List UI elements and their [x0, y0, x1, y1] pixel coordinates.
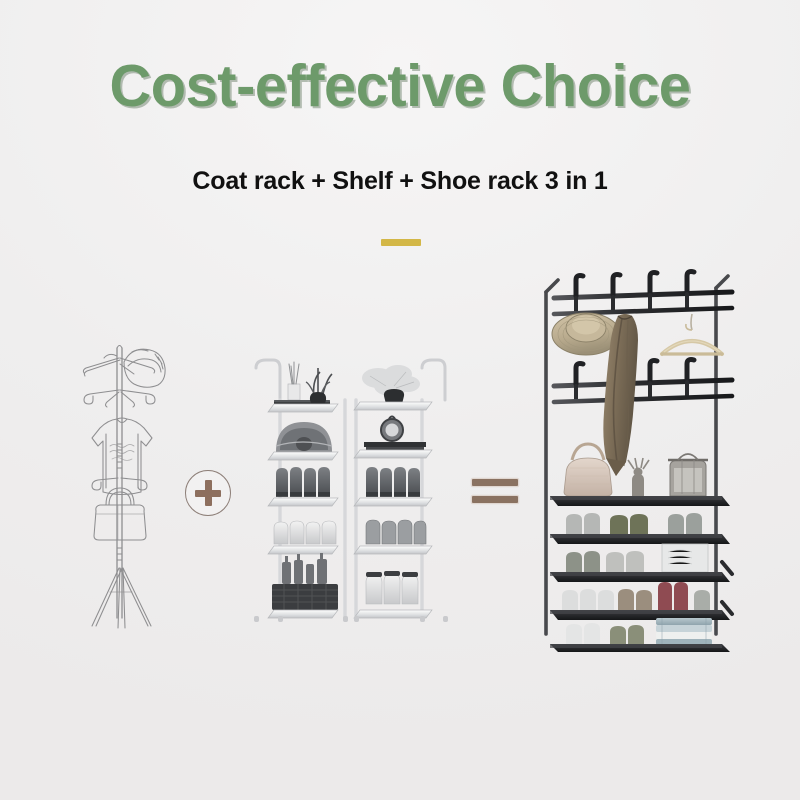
page-title: Cost-effective Choice — [8, 55, 792, 117]
shelf-5-items — [566, 618, 712, 645]
shelf-2-shoes — [566, 513, 702, 534]
shoe-rack-illustration — [246, 356, 456, 628]
shelf-3-shoes — [566, 544, 708, 572]
plus-operator-icon — [185, 470, 231, 516]
shelf-4-shoes — [562, 582, 710, 610]
coat-rack-sketch-svg — [62, 340, 182, 630]
gold-divider-bar — [381, 239, 421, 246]
coat-rack-sketch-illustration — [62, 340, 182, 630]
product-marketing-banner: Cost-effective Choice Coat rack + Shelf … — [0, 0, 800, 800]
equals-bar-bottom — [472, 496, 518, 503]
shoe-rack-svg — [246, 356, 456, 628]
equals-bar-top — [472, 479, 518, 486]
wooden-hanger — [662, 314, 722, 354]
hall-tree-svg — [540, 262, 745, 652]
hall-tree-illustration — [540, 262, 745, 652]
page-subtitle: Coat rack + Shelf + Shoe rack 3 in 1 — [0, 166, 800, 196]
equals-operator-icon — [472, 479, 518, 503]
shelf-1-decor — [564, 444, 708, 496]
